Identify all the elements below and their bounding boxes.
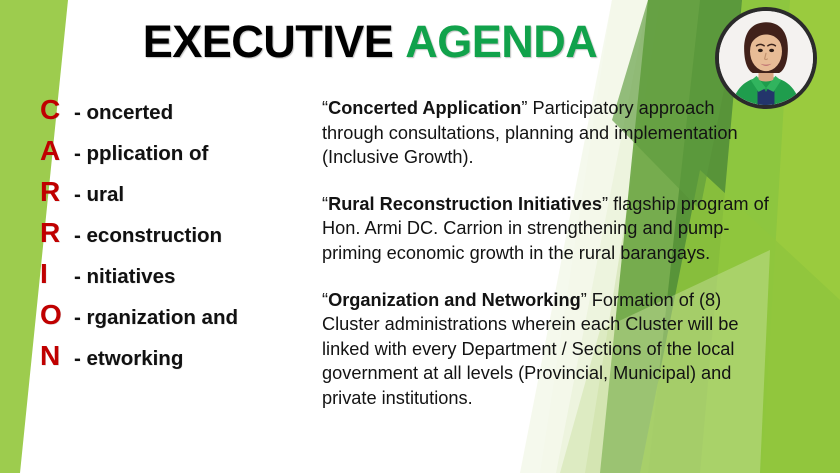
page-title: EXECUTIVE AGENDA	[143, 19, 598, 64]
executive-agenda-slide: EXECUTIVE AGENDA C - oncerted A - pplica…	[0, 0, 840, 473]
acronym-letter: N	[40, 342, 74, 370]
acronym-word: - pplication of	[74, 144, 208, 165]
list-item: N - etworking	[40, 342, 315, 383]
body-text: “Concerted Application” Participatory ap…	[322, 96, 774, 411]
avatar	[715, 7, 817, 109]
acronym-letter: I	[40, 260, 74, 288]
acronym-letter: A	[40, 137, 74, 165]
list-item: C - oncerted	[40, 96, 315, 137]
acronym-letter: O	[40, 301, 74, 329]
paragraph-heading: Concerted Application	[328, 98, 521, 118]
list-item: O - rganization and	[40, 301, 315, 342]
title-primary: EXECUTIVE	[143, 16, 394, 67]
acronym-word: - nitiatives	[74, 267, 175, 288]
title-accent: AGENDA	[405, 16, 597, 67]
acronym-letter: C	[40, 96, 74, 124]
paragraph-organization-and-networking: “Organization and Networking” Formation …	[322, 288, 774, 411]
acronym-word: - ural	[74, 185, 124, 206]
portrait-photo-icon	[719, 11, 813, 105]
acronym-word: - econstruction	[74, 226, 222, 247]
paragraph-heading: Rural Reconstruction Initiatives	[328, 194, 602, 214]
acronym-letter: R	[40, 178, 74, 206]
list-item: R - ural	[40, 178, 315, 219]
paragraph-concerted-application: “Concerted Application” Participatory ap…	[322, 96, 774, 170]
list-item: R - econstruction	[40, 219, 315, 260]
acronym-letter: R	[40, 219, 74, 247]
slide-title: EXECUTIVE AGENDA	[110, 14, 630, 68]
acronym-list: C - oncerted A - pplication of R - ural …	[40, 96, 315, 383]
paragraph-rural-reconstruction-initiatives: “Rural Reconstruction Initiatives” flags…	[322, 192, 774, 266]
acronym-word: - oncerted	[74, 103, 173, 124]
list-item: A - pplication of	[40, 137, 315, 178]
list-item: I - nitiatives	[40, 260, 315, 301]
acronym-word: - etworking	[74, 349, 183, 370]
paragraph-heading: Organization and Networking	[328, 290, 581, 310]
acronym-word: - rganization and	[74, 308, 238, 329]
title-space	[393, 16, 405, 67]
